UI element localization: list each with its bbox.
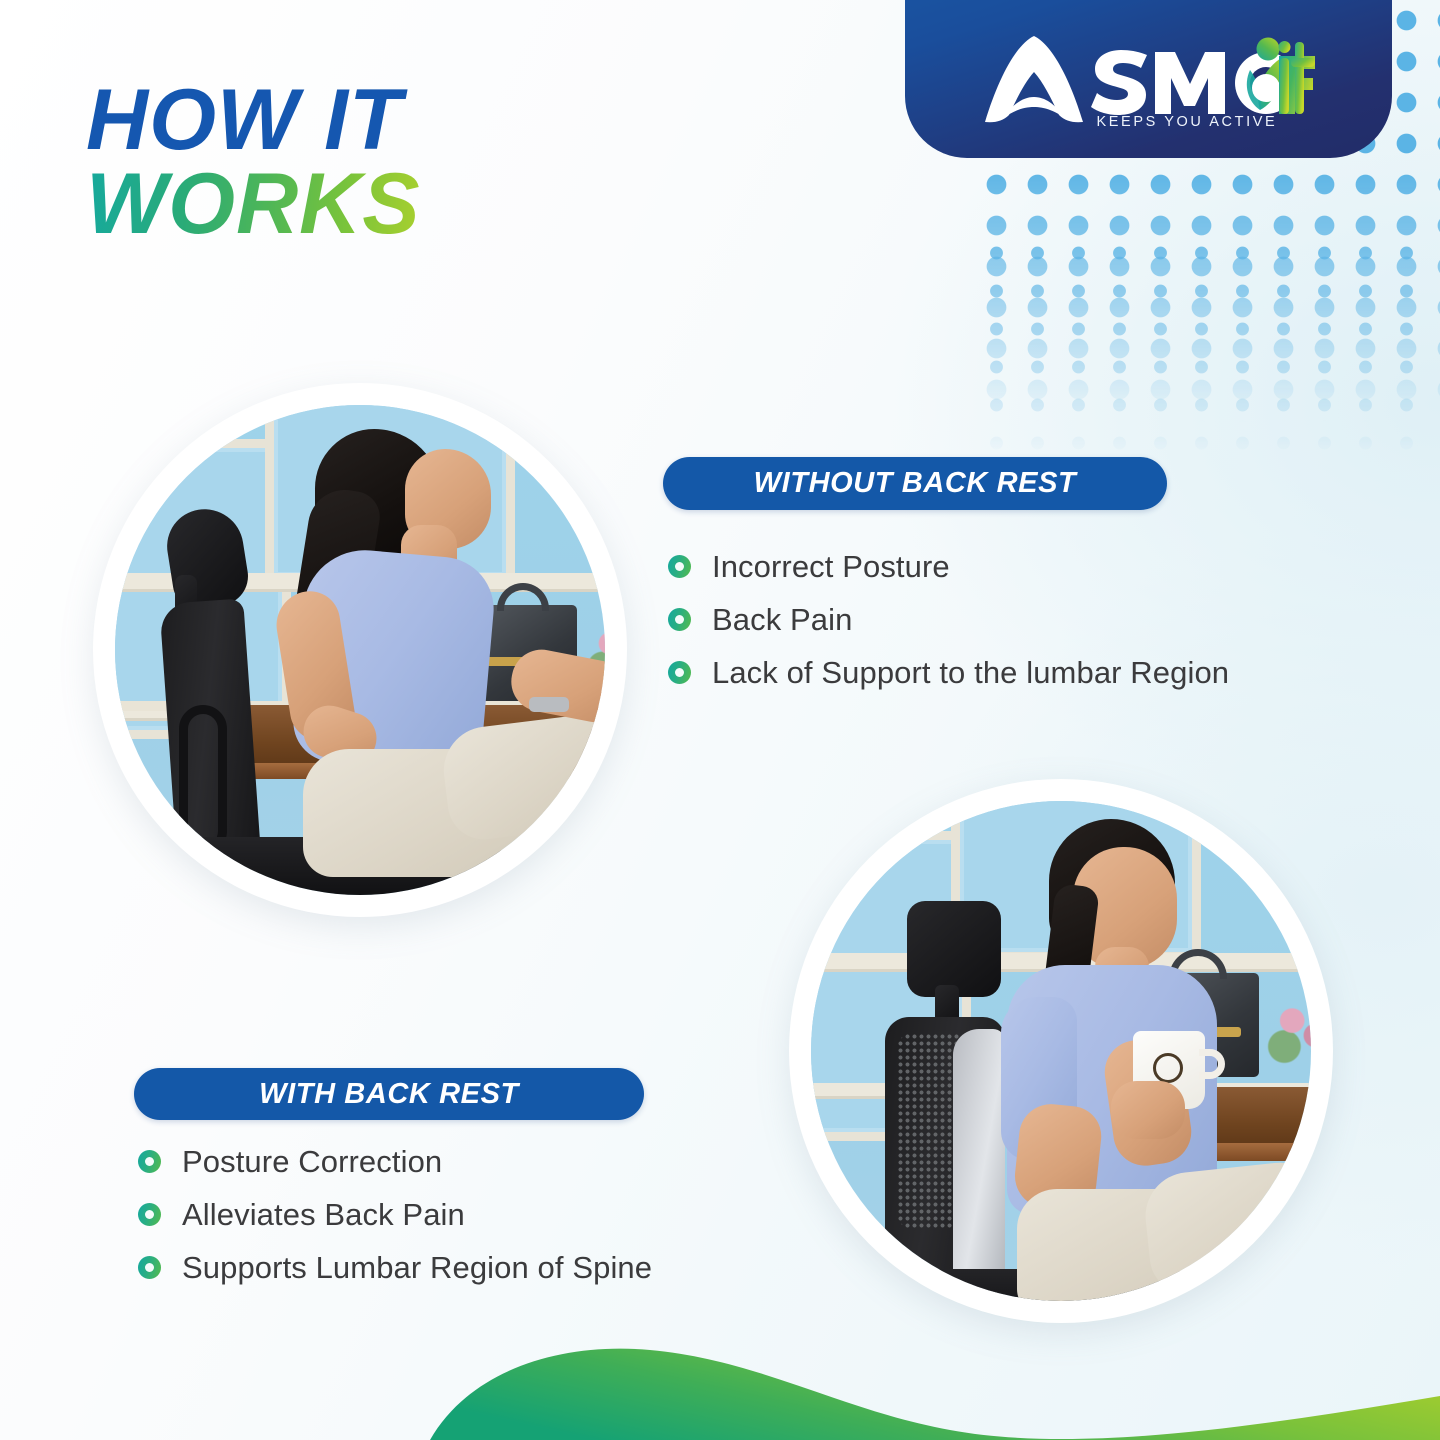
page-title: HOW IT WORKS xyxy=(86,78,421,247)
photo-without-back-rest xyxy=(93,383,627,917)
bullet-ring-icon xyxy=(668,661,691,684)
list-without-back-rest: Incorrect Posture Back Pain Lack of Supp… xyxy=(668,540,1229,699)
brand-tagline: KEEPS YOU ACTIVE xyxy=(1097,114,1278,130)
list-item-label: Alleviates Back Pain xyxy=(182,1197,465,1233)
list-with-back-rest: Posture Correction Alleviates Back Pain … xyxy=(138,1135,652,1294)
badge-with-back-rest-label: WITH BACK REST xyxy=(259,1078,519,1111)
list-item-label: Back Pain xyxy=(712,602,852,638)
bullet-ring-icon xyxy=(138,1203,161,1226)
bullet-ring-icon xyxy=(138,1150,161,1173)
bullet-ring-icon xyxy=(668,608,691,631)
page-title-line1: HOW IT xyxy=(86,78,421,162)
list-item-label: Supports Lumbar Region of Spine xyxy=(182,1250,652,1286)
brand-logo-badge: KEEPS YOU ACTIVE xyxy=(905,0,1392,158)
infographic-poster: KEEPS YOU ACTIVE HOW IT WORKS xyxy=(0,0,1440,1440)
list-item-label: Posture Correction xyxy=(182,1144,442,1180)
list-item-label: Incorrect Posture xyxy=(712,549,950,585)
list-item: Back Pain xyxy=(668,593,1229,646)
list-item: Supports Lumbar Region of Spine xyxy=(138,1241,652,1294)
brand-logo: KEEPS YOU ACTIVE xyxy=(979,26,1319,136)
badge-without-back-rest: WITHOUT BACK REST xyxy=(663,457,1167,510)
fit-wordmark-icon xyxy=(1247,36,1317,116)
list-item-label: Lack of Support to the lumbar Region xyxy=(712,655,1229,691)
badge-without-back-rest-label: WITHOUT BACK REST xyxy=(754,467,1077,500)
list-item: Posture Correction xyxy=(138,1135,652,1188)
photo-with-back-rest xyxy=(789,779,1333,1323)
badge-with-back-rest: WITH BACK REST xyxy=(134,1068,644,1120)
list-item: Alleviates Back Pain xyxy=(138,1188,652,1241)
list-item: Lack of Support to the lumbar Region xyxy=(668,646,1229,699)
dot-pattern-fade-decoration xyxy=(970,226,1440,476)
page-title-line2: WORKS xyxy=(86,162,421,246)
list-item: Incorrect Posture xyxy=(668,540,1229,593)
bullet-ring-icon xyxy=(668,555,691,578)
bullet-ring-icon xyxy=(138,1256,161,1279)
